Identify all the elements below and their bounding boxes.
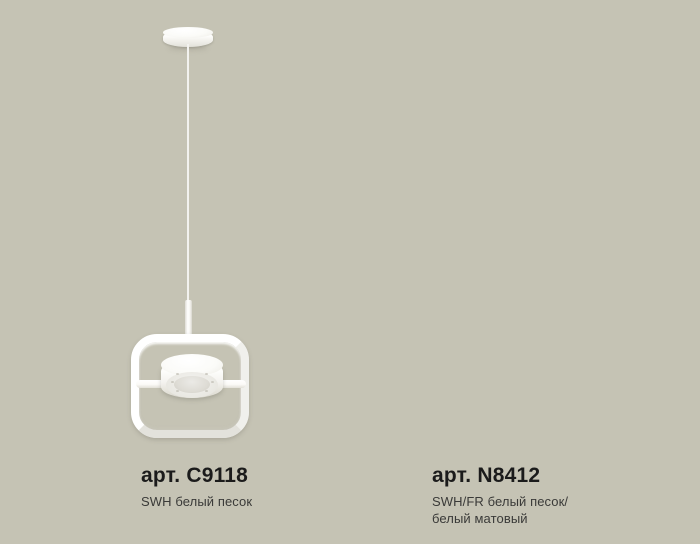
caption-c9118: арт. C9118 SWH белый песок bbox=[141, 464, 252, 510]
led-dot bbox=[176, 390, 179, 392]
caption-subtitle: SWH/FR белый песок/ белый матовый bbox=[432, 493, 568, 527]
caption-title: арт. C9118 bbox=[141, 464, 252, 488]
product-image-canvas: 800 285 200 арт. C9118 SWH белый песок а… bbox=[0, 0, 700, 544]
suspension-cable bbox=[187, 44, 189, 306]
ceiling-canopy-top bbox=[163, 27, 213, 38]
led-dot bbox=[205, 390, 208, 392]
cable-base-connector bbox=[185, 300, 192, 338]
product-photo-c9118 bbox=[0, 0, 350, 460]
dimension-diagram: 800 285 200 bbox=[500, 18, 690, 268]
led-dot bbox=[176, 373, 179, 375]
caption-n8412: арт. N8412 SWH/FR белый песок/ белый мат… bbox=[432, 464, 568, 527]
caption-subtitle: SWH белый песок bbox=[141, 493, 252, 510]
caption-title: арт. N8412 bbox=[432, 464, 568, 488]
led-dot bbox=[205, 373, 208, 375]
led-dot bbox=[211, 381, 214, 383]
led-dot bbox=[171, 381, 174, 383]
